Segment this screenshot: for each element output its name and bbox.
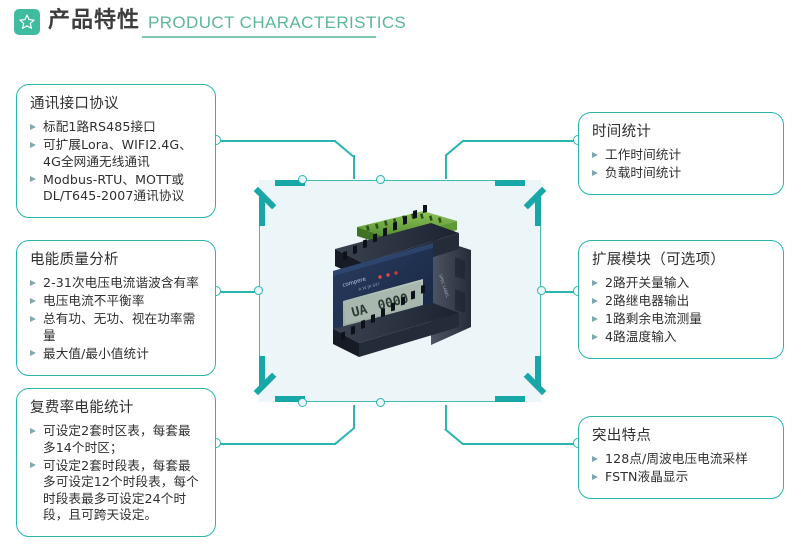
list-item: 2路继电器输出 [592, 293, 771, 310]
info-box-expansion-module: 扩展模块（可选项） 2路开关量输入 2路继电器输出 1路剩余电流测量 4路温度输… [578, 240, 784, 359]
list-item: 1路剩余电流测量 [592, 311, 771, 328]
info-box-communication: 通讯接口协议 标配1路RS485接口 可扩展Lora、WIFI2.4G、4G全网… [16, 84, 216, 218]
page-title-cn: 产品特性 [48, 7, 140, 35]
connector-features-diag [445, 428, 464, 445]
info-box-features: 突出特点 128点/周波电压电流采样 FSTN液晶显示 [578, 416, 784, 499]
frame-corner-bottom-left [259, 356, 305, 402]
arrow-bullet-icon [30, 350, 36, 356]
connector-comm-diag [335, 140, 354, 157]
page-title-en: PRODUCT CHARACTERISTICS [148, 12, 406, 34]
arrow-bullet-icon [30, 280, 36, 286]
list-item: 电压电流不平衡率 [30, 293, 203, 310]
connector-time-h [463, 140, 580, 142]
list-item-text: 2路开关量输入 [605, 275, 689, 290]
arrow-bullet-icon [592, 152, 598, 158]
list-item-text: 可设定2套时区表，每套最多14个时区； [43, 423, 191, 455]
arrow-bullet-icon [30, 298, 36, 304]
page-header: 产品特性 PRODUCT CHARACTERISTICS [0, 0, 800, 44]
box-title-expansion-module: 扩展模块（可选项） [592, 251, 771, 270]
list-item-text: 工作时间统计 [605, 147, 681, 162]
frame-dot-top-left [298, 175, 307, 184]
list-item: 4路温度输入 [592, 329, 771, 346]
product-characteristics-diagram: 产品特性 PRODUCT CHARACTERISTICS [0, 0, 800, 547]
info-box-tariff: 复费率电能统计 可设定2套时区表，每套最多14个时区； 可设定2套时段表，每套最… [16, 388, 216, 537]
list-item-text: 电压电流不平衡率 [43, 293, 145, 308]
box-title-features: 突出特点 [592, 427, 771, 446]
frame-dot-bottom-left [298, 398, 307, 407]
arrow-bullet-icon [592, 334, 598, 340]
arrow-bullet-icon [30, 428, 36, 434]
list-item-text: 4路温度输入 [605, 329, 677, 344]
list-item-text: Modbus-RTU、MOTT或DL/T645-2007通讯协议 [43, 172, 184, 204]
arrow-bullet-icon [30, 124, 36, 130]
list-item-text: FSTN液晶显示 [605, 469, 688, 484]
list-item: 最大值/最小值统计 [30, 346, 203, 363]
frame-dot-right [537, 286, 546, 295]
star-badge-icon [14, 9, 40, 35]
frame-dot-left [254, 286, 263, 295]
list-item: 2-31次电压电流谐波含有率 [30, 275, 203, 292]
list-item: 2路开关量输入 [592, 275, 771, 292]
arrow-bullet-icon [592, 474, 598, 480]
bullet-list-power-quality: 2-31次电压电流谐波含有率 电压电流不平衡率 总有功、无功、视在功率需量 最大… [30, 275, 203, 362]
box-title-time-statistics: 时间统计 [592, 123, 771, 142]
list-item-text: 2路继电器输出 [605, 293, 689, 308]
connector-comm-h [216, 140, 336, 142]
bullet-list-tariff: 可设定2套时区表，每套最多14个时区； 可设定2套时段表，每套最多可设定12个时… [30, 423, 203, 524]
frame-dot-top-right [376, 175, 385, 184]
connector-time-v [445, 155, 447, 179]
list-item-text: 可扩展Lora、WIFI2.4G、4G全网通无线通讯 [43, 137, 192, 169]
list-item-text: 最大值/最小值统计 [43, 346, 149, 361]
arrow-bullet-icon [30, 142, 36, 148]
bullet-list-communication: 标配1路RS485接口 可扩展Lora、WIFI2.4G、4G全网通无线通讯 M… [30, 119, 203, 205]
list-item: 可扩展Lora、WIFI2.4G、4G全网通无线通讯 [30, 137, 203, 170]
connector-features-h [463, 443, 580, 445]
list-item: FSTN液晶显示 [592, 469, 771, 486]
list-item: 标配1路RS485接口 [30, 119, 203, 136]
connector-tariff-h [216, 443, 336, 445]
list-item: 负载时间统计 [592, 165, 771, 182]
list-item-text: 2-31次电压电流谐波含有率 [43, 275, 199, 290]
list-item: Modbus-RTU、MOTT或DL/T645-2007通讯协议 [30, 172, 203, 205]
list-item: 工作时间统计 [592, 147, 771, 164]
header-underline [142, 36, 376, 38]
box-title-communication: 通讯接口协议 [30, 95, 203, 114]
list-item-text: 1路剩余电流测量 [605, 311, 702, 326]
info-box-time-statistics: 时间统计 工作时间统计 负载时间统计 [578, 112, 784, 195]
box-title-power-quality: 电能质量分析 [30, 251, 203, 270]
arrow-bullet-icon [592, 298, 598, 304]
connector-time-diag [445, 140, 464, 157]
connector-tariff-diag [335, 428, 354, 445]
list-item-text: 可设定2套时段表，每套最多可设定12个时段表，每个时段表最多可设定24个时段，且… [43, 458, 199, 523]
list-item: 可设定2套时段表，每套最多可设定12个时段表，每个时段表最多可设定24个时段，且… [30, 458, 203, 524]
list-item-text: 128点/周波电压电流采样 [605, 451, 748, 466]
frame-corner-bottom-right [495, 356, 541, 402]
bullet-list-time-statistics: 工作时间统计 负载时间统计 [592, 147, 771, 182]
arrow-bullet-icon [592, 316, 598, 322]
bullet-list-expansion-module: 2路开关量输入 2路继电器输出 1路剩余电流测量 4路温度输入 [592, 275, 771, 346]
list-item: 可设定2套时区表，每套最多14个时区； [30, 423, 203, 456]
list-item: 128点/周波电压电流采样 [592, 451, 771, 468]
list-item-text: 总有功、无功、视在功率需量 [43, 311, 195, 343]
frame-corner-top-left [259, 180, 305, 226]
arrow-bullet-icon [592, 170, 598, 176]
list-item-text: 负载时间统计 [605, 165, 681, 180]
frame-edge-top [285, 180, 515, 181]
frame-edge-bottom [285, 401, 515, 402]
product-photo: compere R W JR 647 UA 0000 [319, 205, 494, 365]
arrow-bullet-icon [30, 176, 36, 182]
list-item: 总有功、无功、视在功率需量 [30, 311, 203, 344]
product-frame: compere R W JR 647 UA 0000 [259, 180, 541, 402]
arrow-bullet-icon [592, 280, 598, 286]
frame-corner-top-right [495, 180, 541, 226]
list-item-text: 标配1路RS485接口 [43, 119, 156, 134]
connector-features-v [445, 405, 447, 429]
box-title-tariff: 复费率电能统计 [30, 399, 203, 418]
arrow-bullet-icon [30, 316, 36, 322]
connector-tariff-v [353, 405, 355, 429]
frame-dot-bottom-right [376, 398, 385, 407]
arrow-bullet-icon [592, 456, 598, 462]
info-box-power-quality: 电能质量分析 2-31次电压电流谐波含有率 电压电流不平衡率 总有功、无功、视在… [16, 240, 216, 376]
connector-comm-v [353, 155, 355, 179]
bullet-list-features: 128点/周波电压电流采样 FSTN液晶显示 [592, 451, 771, 486]
arrow-bullet-icon [30, 462, 36, 468]
